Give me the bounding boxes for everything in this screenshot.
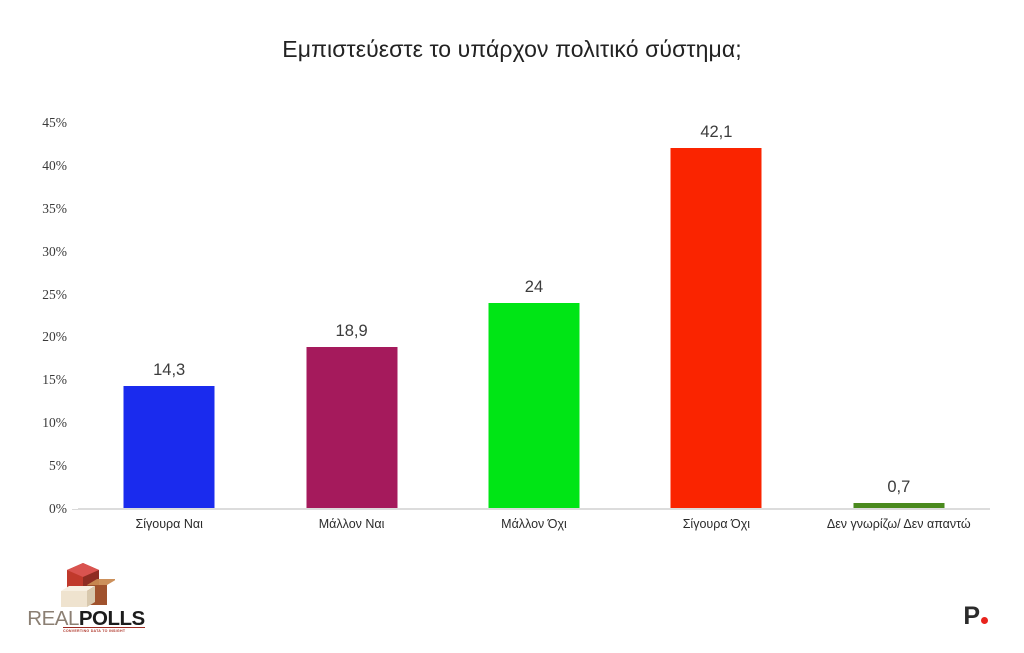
- bar-group: 18,9Μάλλον Ναι: [260, 123, 442, 509]
- logo-divider: [63, 627, 145, 628]
- y-axis-tick-label: 30%: [42, 244, 67, 260]
- x-axis-line: [78, 508, 990, 510]
- chart-page: Εμπιστεύεστε το υπάρχον πολιτικό σύστημα…: [0, 0, 1024, 653]
- bar-value-label: 0,7: [887, 478, 910, 497]
- bar-2[interactable]: [306, 347, 397, 509]
- plot-area: 0%5%10%15%20%25%30%35%40%45%14,3Σίγουρα …: [78, 123, 990, 509]
- bar-value-label: 42,1: [700, 123, 732, 142]
- category-label: Δεν γνωρίζω/ Δεν απαντώ: [827, 517, 971, 531]
- bar-value-label: 24: [525, 278, 543, 297]
- bar-group: 0,7Δεν γνωρίζω/ Δεν απαντώ: [808, 123, 990, 509]
- chart-title: Εμπιστεύεστε το υπάρχον πολιτικό σύστημα…: [0, 36, 1024, 63]
- y-axis-tick-label: 5%: [49, 458, 67, 474]
- logo-tagline: CONVERTING DATA TO INSIGHT: [63, 629, 145, 633]
- y-axis-tick-label: 40%: [42, 158, 67, 174]
- bar-group: 14,3Σίγουρα Ναι: [78, 123, 260, 509]
- bar-value-label: 14,3: [153, 361, 185, 380]
- y-axis-tick-label: 35%: [42, 201, 67, 217]
- category-label: Σίγουρα Ναι: [135, 517, 202, 531]
- category-label: Μάλλον Όχι: [501, 517, 567, 531]
- bar-3[interactable]: [488, 303, 579, 509]
- bar-4[interactable]: [671, 148, 762, 509]
- bar-value-label: 18,9: [336, 322, 368, 341]
- y-axis-tick-label: 15%: [42, 372, 67, 388]
- realpolls-logo: REALPOLLS CONVERTING DATA TO INSIGHT: [27, 563, 145, 635]
- category-label: Σίγουρα Όχι: [683, 517, 750, 531]
- bar-1[interactable]: [124, 386, 215, 509]
- secondary-logo-dot: [981, 617, 988, 624]
- y-axis-tick-label: 45%: [42, 115, 67, 131]
- y-axis-tick-label: 20%: [42, 329, 67, 345]
- realpolls-cube-icon: [53, 563, 115, 611]
- secondary-logo-letter: P: [963, 602, 980, 630]
- secondary-logo: P: [963, 604, 988, 629]
- y-axis-tick-label: 10%: [42, 415, 67, 431]
- y-axis-tick-label: 0%: [49, 501, 67, 517]
- bar-group: 24Μάλλον Όχι: [443, 123, 625, 509]
- y-axis-tick-label: 25%: [42, 287, 67, 303]
- bar-group: 42,1Σίγουρα Όχι: [625, 123, 807, 509]
- category-label: Μάλλον Ναι: [319, 517, 385, 531]
